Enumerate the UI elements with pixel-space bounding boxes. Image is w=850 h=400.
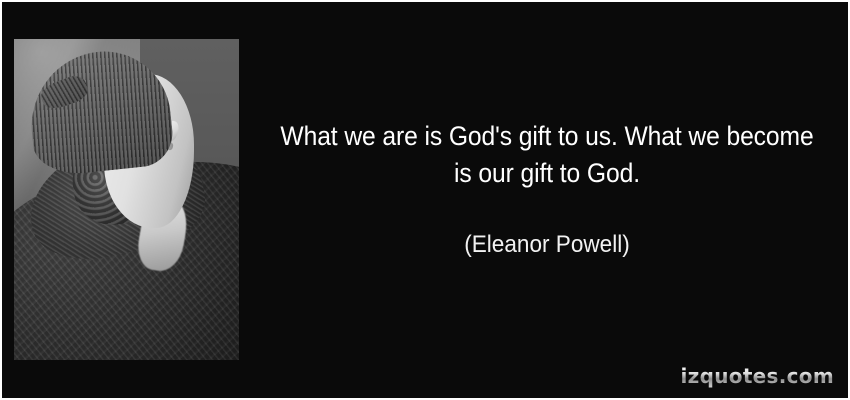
knit-cap-fold — [37, 72, 90, 113]
site-watermark: izquotes.com — [681, 364, 834, 388]
quote-card: What we are is God's gift to us. What we… — [0, 0, 850, 400]
quote-attribution: (Eleanor Powell) — [268, 230, 826, 260]
quote-body: What we are is God's gift to us. What we… — [271, 118, 823, 192]
portrait-photo — [14, 39, 239, 360]
photo-backdrop — [14, 39, 239, 360]
quote-text-area: What we are is God's gift to us. What we… — [250, 2, 844, 400]
